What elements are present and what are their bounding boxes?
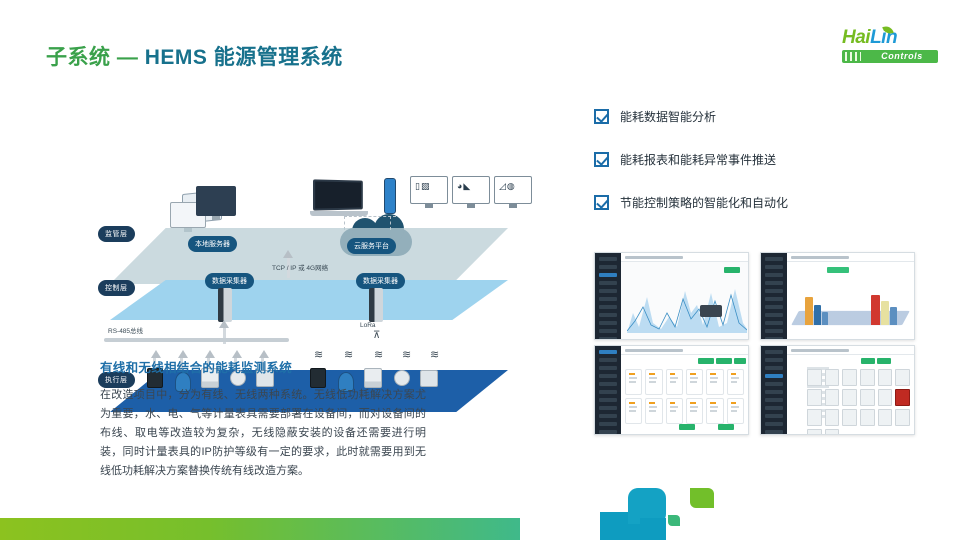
layer-plane-control bbox=[110, 280, 508, 320]
list-item bbox=[825, 429, 840, 435]
checkbox-icon bbox=[594, 195, 609, 210]
data-collector-device-2 bbox=[369, 288, 383, 322]
phone-icon bbox=[384, 178, 396, 214]
thumb-content bbox=[787, 355, 914, 434]
layer-badge-control: 控制层 bbox=[98, 280, 135, 296]
deco-teal-block-3 bbox=[640, 518, 666, 540]
layer-badge-supervision: 监管层 bbox=[98, 226, 135, 242]
list-item bbox=[842, 369, 857, 386]
meter-device bbox=[394, 370, 410, 386]
thumb-content bbox=[621, 355, 748, 434]
thumb-topbar bbox=[621, 253, 748, 262]
dashboard-monitor-2: ◕◣ bbox=[452, 176, 490, 204]
list-item bbox=[686, 398, 703, 424]
section-heading: 有线和无线相结合的能耗监测系统 bbox=[100, 357, 292, 376]
list-item bbox=[727, 369, 744, 395]
thumb-topbar bbox=[621, 346, 748, 355]
thumb-topbar bbox=[787, 346, 914, 355]
wifi-signal-icon: ≋ bbox=[430, 348, 439, 361]
list-item bbox=[706, 369, 723, 395]
device-tile-grid bbox=[807, 369, 910, 435]
card-grid bbox=[625, 369, 744, 424]
list-item bbox=[727, 398, 744, 424]
bus-arrow-icon bbox=[219, 320, 229, 328]
list-item bbox=[625, 369, 642, 395]
meter-device bbox=[420, 370, 438, 387]
feature-list: 能耗数据智能分析 能耗报表和能耗异常事件推送 节能控制策略的智能化和自动化 bbox=[594, 108, 934, 237]
list-item bbox=[860, 409, 875, 426]
list-item bbox=[625, 398, 642, 424]
list-item bbox=[878, 389, 893, 406]
thumb-sidebar bbox=[761, 346, 787, 434]
list-item bbox=[825, 389, 840, 406]
wifi-signal-icon: ≋ bbox=[402, 348, 411, 361]
list-item-alert bbox=[895, 389, 910, 406]
list-item bbox=[825, 409, 840, 426]
list-item bbox=[666, 369, 683, 395]
wifi-signal-icon: ≋ bbox=[374, 348, 383, 361]
screenshot-gallery bbox=[594, 252, 916, 438]
list-item bbox=[807, 409, 822, 426]
uplink-arrow-icon bbox=[283, 250, 293, 258]
list-item: 能耗报表和能耗异常事件推送 bbox=[594, 151, 934, 168]
caption-uplink: TCP / IP 或 4G网络 bbox=[272, 262, 328, 272]
list-item bbox=[645, 398, 662, 424]
thumbnail-device-status-grid[interactable] bbox=[760, 345, 915, 435]
list-item bbox=[666, 398, 683, 424]
wifi-signal-icon: ≋ bbox=[314, 348, 323, 361]
list-item bbox=[825, 369, 840, 386]
list-item bbox=[807, 429, 822, 435]
thumbnail-energy-trend[interactable] bbox=[594, 252, 749, 340]
list-item bbox=[895, 369, 910, 386]
slide-root: 子系统 — HEMS 能源管理系统 HaiLin Controls ▯▧ ◕◣ … bbox=[0, 0, 960, 540]
thumb-sidebar bbox=[761, 253, 787, 339]
node-label-data-collector-2: 数据采集器 bbox=[356, 273, 405, 289]
page-title-teal: HEMS 能源管理系统 bbox=[145, 46, 343, 69]
thumb-sidebar bbox=[595, 346, 621, 434]
thumbnail-3d-bar-chart[interactable] bbox=[760, 252, 915, 340]
node-label-data-collector-1: 数据采集器 bbox=[205, 273, 254, 289]
bottom-green-bar bbox=[0, 518, 520, 540]
thumbnail-device-cards[interactable] bbox=[594, 345, 749, 435]
caption-wireless: LoRa bbox=[360, 322, 376, 329]
hailin-logo: HaiLin Controls bbox=[830, 28, 942, 70]
list-item bbox=[878, 409, 893, 426]
list-item bbox=[895, 409, 910, 426]
server-monitor-main bbox=[196, 186, 236, 216]
meter-device bbox=[310, 368, 326, 388]
list-item-label: 能耗数据智能分析 bbox=[620, 108, 716, 125]
wifi-signal-icon: ≋ bbox=[344, 348, 353, 361]
list-item bbox=[842, 389, 857, 406]
rs485-bus-line bbox=[104, 338, 289, 342]
list-item-label: 节能控制策略的智能化和自动化 bbox=[620, 194, 788, 211]
list-item bbox=[860, 389, 875, 406]
list-item: 节能控制策略的智能化和自动化 bbox=[594, 194, 934, 211]
thumb-sidebar bbox=[595, 253, 621, 339]
section-paragraph: 在改造项目中，分为有线、无线两种系统。无线低功耗解决方案尤为重要，水、电、气等计… bbox=[100, 386, 426, 481]
page-title: 子系统 — HEMS 能源管理系统 bbox=[46, 41, 343, 71]
list-item bbox=[686, 369, 703, 395]
list-item bbox=[645, 369, 662, 395]
page-title-green: 子系统 — bbox=[46, 46, 138, 69]
area-chart bbox=[627, 283, 747, 333]
thumb-content bbox=[787, 262, 914, 339]
checkbox-icon bbox=[594, 152, 609, 167]
logo-controls: Controls bbox=[866, 50, 938, 63]
list-item bbox=[878, 369, 893, 386]
caption-wired-bus: RS-485总线 bbox=[108, 325, 143, 335]
dashboard-monitor-1: ▯▧ bbox=[410, 176, 448, 204]
lora-antenna-icon: ⊼ bbox=[373, 330, 380, 341]
list-item bbox=[807, 389, 822, 406]
list-item bbox=[860, 369, 875, 386]
stripes-icon bbox=[845, 52, 861, 61]
layer-plane-supervision bbox=[110, 228, 508, 284]
logo-badge: Controls bbox=[842, 50, 938, 63]
architecture-diagram: ▯▧ ◕◣ ◿◍ 监管层 控制层 执行层 本地服务器 云服务平台 数据采集器 数… bbox=[92, 80, 522, 350]
data-collector-device-1 bbox=[218, 288, 232, 322]
dashboard-monitor-3: ◿◍ bbox=[494, 176, 532, 204]
logo-hai: Hai bbox=[842, 27, 870, 48]
meter-device bbox=[364, 368, 382, 388]
checkbox-icon bbox=[594, 109, 609, 124]
thumb-content bbox=[621, 262, 748, 339]
thumb-topbar bbox=[787, 253, 914, 262]
logo-wordmark: HaiLin bbox=[842, 28, 897, 48]
node-label-local-server: 本地服务器 bbox=[188, 236, 237, 252]
list-item bbox=[807, 369, 822, 386]
list-item-label: 能耗报表和能耗异常事件推送 bbox=[620, 151, 776, 168]
node-label-cloud-platform: 云服务平台 bbox=[347, 238, 396, 254]
list-item bbox=[706, 398, 723, 424]
deco-green-leaf-1 bbox=[690, 488, 714, 508]
laptop-icon bbox=[310, 180, 368, 216]
deco-green-leaf-2 bbox=[668, 515, 680, 526]
list-item: 能耗数据智能分析 bbox=[594, 108, 934, 125]
list-item bbox=[842, 409, 857, 426]
